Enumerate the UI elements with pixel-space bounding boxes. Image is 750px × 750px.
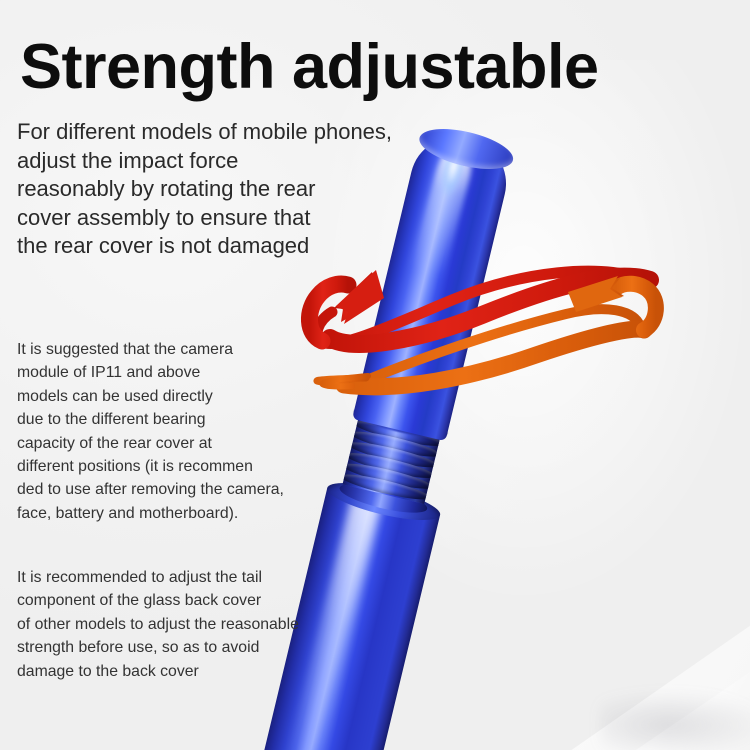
intro-line: reasonably by rotating the rear [17, 175, 377, 204]
page-title: Strength adjustable [20, 31, 599, 103]
note-line: face, battery and motherboard). [17, 502, 347, 525]
intro-line: For different models of mobile phones, [17, 118, 377, 147]
note-glass-back-cover: It is recommended to adjust the tail com… [17, 566, 347, 683]
note-line: due to the different bearing [17, 408, 347, 431]
intro-paragraph: For different models of mobile phones, a… [17, 118, 377, 261]
note-line: ded to use after removing the camera, [17, 478, 347, 501]
note-line: capacity of the rear cover at [17, 432, 347, 455]
note-line: module of IP11 and above [17, 361, 347, 384]
note-line: different positions (it is recommen [17, 455, 347, 478]
note-line: strength before use, so as to avoid [17, 636, 347, 659]
intro-line: adjust the impact force [17, 147, 377, 176]
note-line: models can be used directly [17, 385, 347, 408]
note-camera-module: It is suggested that the camera module o… [17, 338, 347, 525]
note-line: It is suggested that the camera [17, 338, 347, 361]
note-line: of other models to adjust the reasonable [17, 613, 347, 636]
note-line: damage to the back cover [17, 660, 347, 683]
note-line: It is recommended to adjust the tail [17, 566, 347, 589]
intro-line: cover assembly to ensure that [17, 204, 377, 233]
product-feature-card: Strength adjustable For different models… [0, 0, 750, 750]
intro-line: the rear cover is not damaged [17, 232, 377, 261]
note-line: component of the glass back cover [17, 589, 347, 612]
